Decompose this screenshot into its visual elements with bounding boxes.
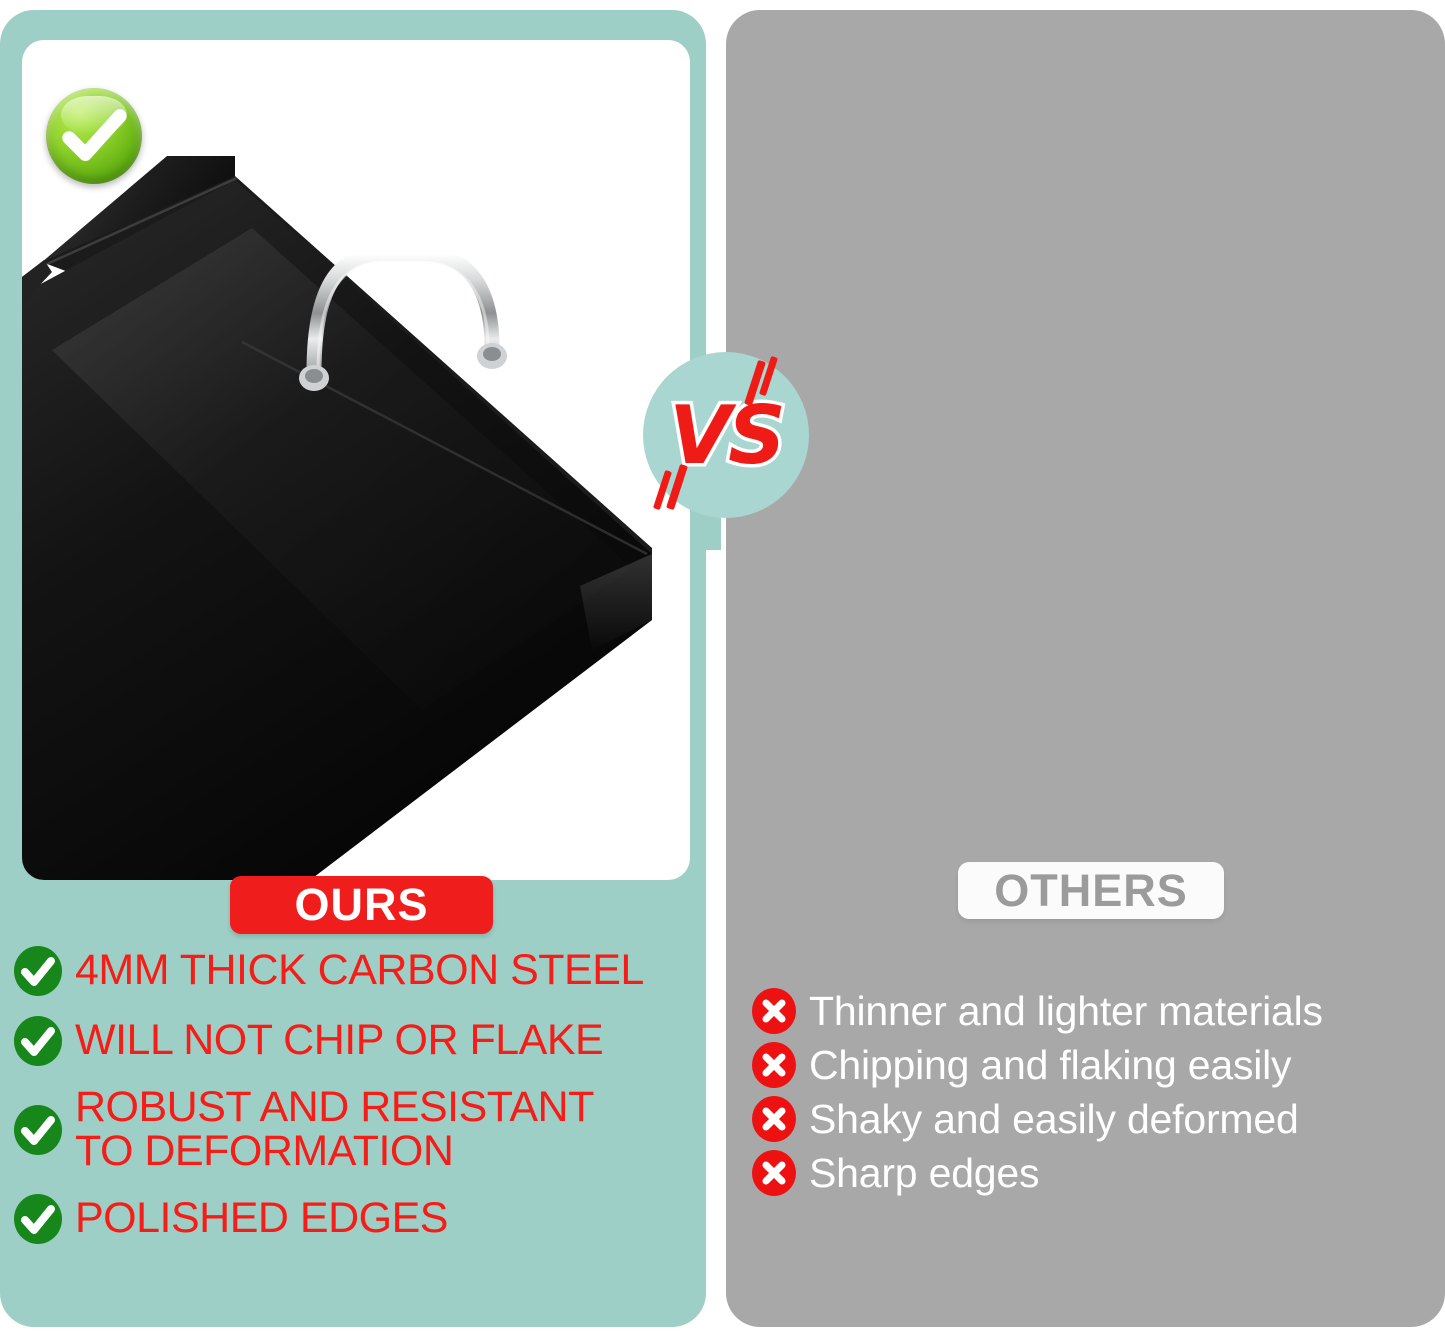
- check-icon: [14, 946, 62, 996]
- x-icon: [752, 1096, 796, 1142]
- list-item: Chipping and flaking easily: [752, 1042, 1442, 1088]
- list-item-label: Sharp edges: [809, 1153, 1039, 1194]
- others-panel: OTHERS Thinner and lighter materials Chi…: [726, 10, 1445, 1327]
- list-item-label: 4MM THICK CARBON STEEL: [75, 949, 644, 993]
- vs-label: VS: [643, 352, 809, 518]
- list-item-label: Shaky and easily deformed: [809, 1099, 1299, 1140]
- x-icon: [752, 988, 796, 1034]
- green-check-badge-icon: [46, 88, 142, 184]
- list-item: WILL NOT CHIP OR FLAKE: [14, 1016, 704, 1066]
- check-icon: [14, 1105, 62, 1155]
- list-item-label: ROBUST AND RESISTANT TO DEFORMATION: [75, 1086, 594, 1174]
- ours-product-card: [22, 40, 690, 880]
- others-label-badge: OTHERS: [958, 862, 1224, 919]
- black-griddle-image: [22, 150, 652, 880]
- list-item: Thinner and lighter materials: [752, 988, 1442, 1034]
- comparison-infographic: OURS 4MM THICK CARBON STEEL WILL NOT CHI…: [0, 0, 1445, 1337]
- list-item-label: Chipping and flaking easily: [809, 1045, 1291, 1086]
- list-item-label: Thinner and lighter materials: [809, 991, 1323, 1032]
- list-item-label: POLISHED EDGES: [75, 1197, 448, 1241]
- check-icon: [14, 1194, 62, 1244]
- x-icon: [752, 1150, 796, 1196]
- check-icon: [14, 1016, 62, 1066]
- list-item: ROBUST AND RESISTANT TO DEFORMATION: [14, 1086, 704, 1174]
- list-item: 4MM THICK CARBON STEEL: [14, 946, 704, 996]
- ours-feature-list: 4MM THICK CARBON STEEL WILL NOT CHIP OR …: [14, 946, 704, 1264]
- list-item: POLISHED EDGES: [14, 1194, 704, 1244]
- list-item-label: WILL NOT CHIP OR FLAKE: [75, 1019, 603, 1063]
- list-item: Shaky and easily deformed: [752, 1096, 1442, 1142]
- list-item: Sharp edges: [752, 1150, 1442, 1196]
- x-icon: [752, 1042, 796, 1088]
- ours-label-badge: OURS: [230, 876, 493, 934]
- others-drawback-list: Thinner and lighter materials Chipping a…: [752, 988, 1442, 1204]
- ours-panel: OURS 4MM THICK CARBON STEEL WILL NOT CHI…: [0, 10, 706, 1327]
- vs-badge: VS: [643, 352, 809, 552]
